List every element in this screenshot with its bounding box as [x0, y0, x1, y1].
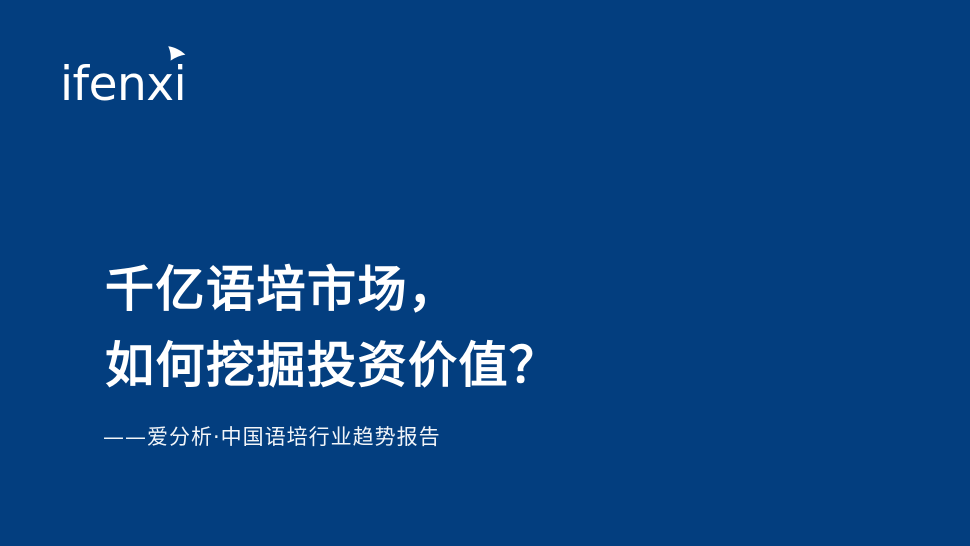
- brand-logo[interactable]: ifenxi: [60, 50, 186, 108]
- headline-line-2: 如何挖掘投资价值？: [105, 328, 865, 404]
- headline-block: 千亿语培市场， 如何挖掘投资价值？: [105, 252, 865, 404]
- brand-logo-wordmark: ifenxi: [60, 61, 186, 108]
- headline-line-1: 千亿语培市场，: [105, 252, 865, 328]
- subtitle-attribution: ——爱分析·中国语培行业趋势报告: [103, 420, 441, 454]
- slide-cover: ifenxi 千亿语培市场， 如何挖掘投资价值？ ——爱分析·中国语培行业趋势报…: [0, 0, 970, 546]
